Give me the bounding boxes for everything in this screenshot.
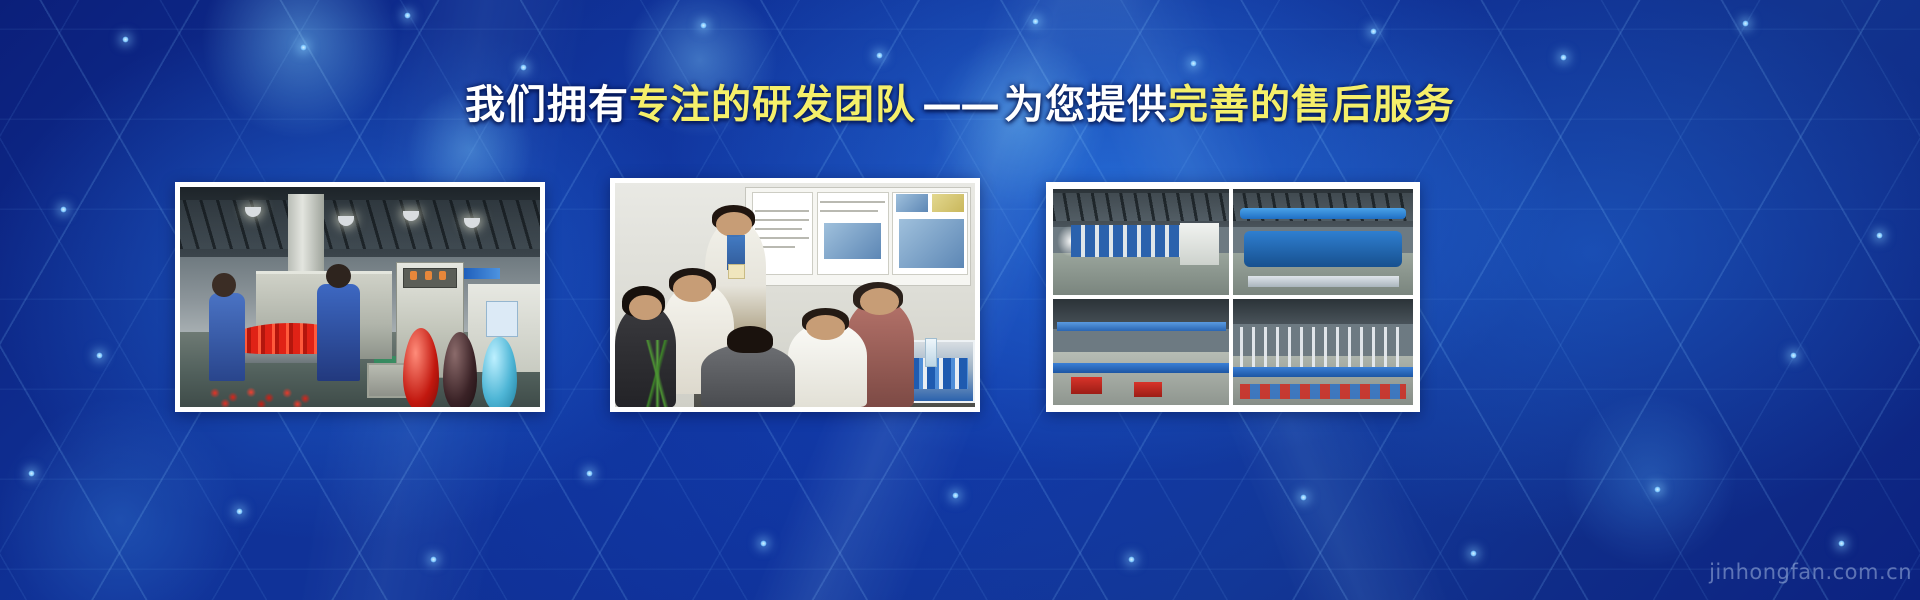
team-meeting-photo (615, 183, 975, 407)
headline-segment-4: 完善的售后服务 (1168, 82, 1455, 128)
headline-segment-2: 专注的研发团队 (629, 82, 916, 128)
photo-panel-equipment-collage[interactable] (1046, 182, 1420, 412)
collage-cell-top-left (1051, 187, 1231, 297)
photo-panel-team-meeting[interactable] (610, 178, 980, 412)
photo-panel-production-line[interactable] (175, 182, 545, 412)
banner-headline: 我们拥有专注的研发团队——为您提供完善的售后服务 (0, 82, 1920, 128)
collage-cell-bottom-left (1051, 297, 1231, 407)
equipment-collage-photo (1051, 187, 1415, 407)
headline-dash: —— (916, 82, 1004, 128)
collage-cell-top-right (1231, 187, 1415, 297)
production-line-photo (180, 187, 540, 407)
headline-segment-1: 我们拥有 (465, 82, 629, 128)
headline-segment-3: 为您提供 (1004, 82, 1168, 128)
collage-cell-bottom-right (1231, 297, 1415, 407)
promo-banner: 我们拥有专注的研发团队——为您提供完善的售后服务 (0, 0, 1920, 600)
site-watermark: jinhongfan.com.cn (1709, 560, 1912, 584)
